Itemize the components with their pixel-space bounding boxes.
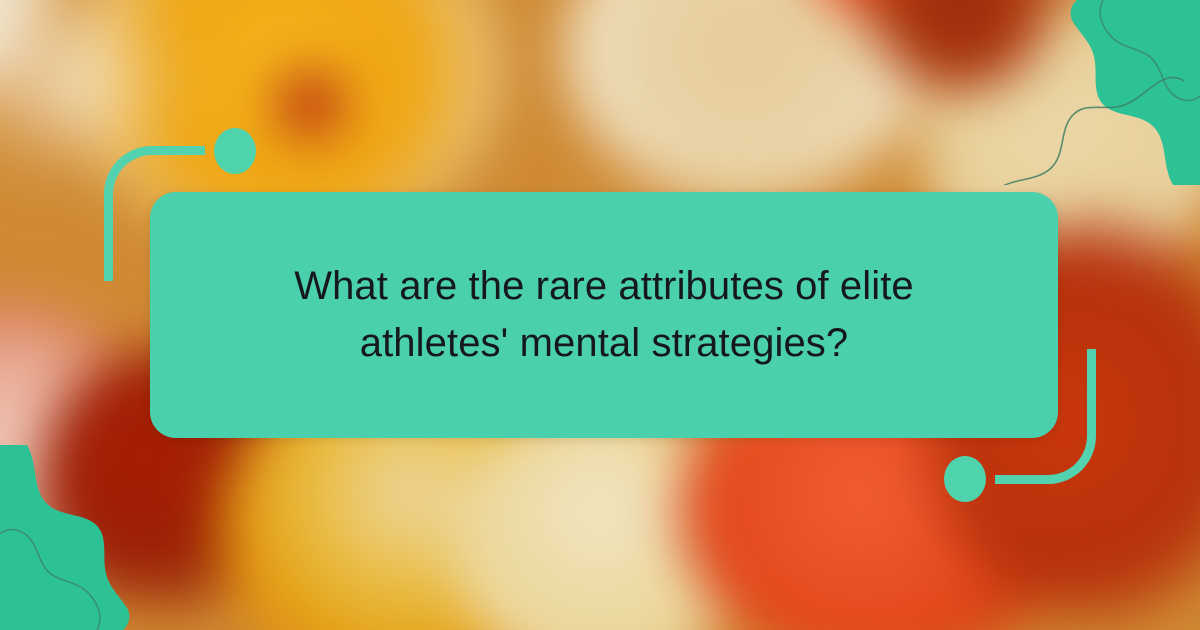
accent-dot-top-left <box>214 128 256 174</box>
accent-dot-bottom-right <box>944 456 986 502</box>
social-card-canvas: What are the rare attributes of elite at… <box>0 0 1200 630</box>
citrus-slice <box>565 0 925 200</box>
citrus-center-spot <box>275 70 345 140</box>
question-card: What are the rare attributes of elite at… <box>150 192 1058 438</box>
question-title: What are the rare attributes of elite at… <box>184 258 1024 372</box>
